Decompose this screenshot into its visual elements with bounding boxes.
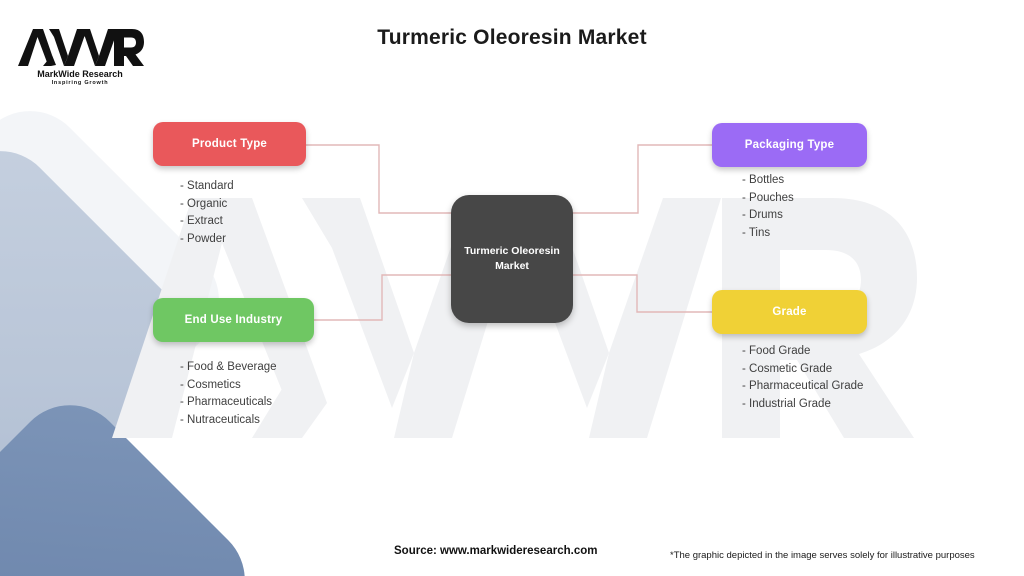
list-item: - Pharmaceutical Grade: [742, 378, 863, 396]
branch-list-packaging-type: - Bottles - Pouches - Drums - Tins: [742, 172, 794, 242]
branch-pill-packaging-type[interactable]: Packaging Type: [712, 123, 867, 167]
branch-pill-grade[interactable]: Grade: [712, 290, 867, 334]
branch-label-grade: Grade: [772, 306, 806, 318]
center-node-line2: Market: [495, 260, 529, 272]
list-item: - Pouches: [742, 190, 794, 208]
list-item: - Pharmaceuticals: [180, 394, 277, 412]
connector-end-use-industry: [314, 275, 452, 320]
infographic-canvas: MarkWide Research Inspiring Growth Turme…: [0, 0, 1024, 576]
list-item: - Nutraceuticals: [180, 412, 277, 430]
center-node-label: Turmeric Oleoresin Market: [464, 244, 560, 274]
branch-pill-end-use-industry[interactable]: End Use Industry: [153, 298, 314, 342]
list-item: - Tins: [742, 225, 794, 243]
branch-label-packaging-type: Packaging Type: [745, 139, 835, 151]
connector-product-type: [306, 145, 452, 213]
branch-list-product-type: - Standard - Organic - Extract - Powder: [180, 178, 234, 248]
source-text: Source: www.markwideresearch.com: [394, 545, 597, 557]
list-item: - Extract: [180, 213, 234, 231]
connector-packaging-type: [572, 145, 712, 213]
list-item: - Organic: [180, 196, 234, 214]
list-item: - Bottles: [742, 172, 794, 190]
list-item: - Cosmetic Grade: [742, 361, 863, 379]
center-node[interactable]: Turmeric Oleoresin Market: [451, 195, 573, 323]
disclaimer-text: *The graphic depicted in the image serve…: [670, 550, 975, 561]
list-item: - Drums: [742, 207, 794, 225]
branch-label-end-use-industry: End Use Industry: [185, 314, 283, 326]
branch-label-product-type: Product Type: [192, 138, 267, 150]
list-item: - Powder: [180, 231, 234, 249]
list-item: - Standard: [180, 178, 234, 196]
branch-list-grade: - Food Grade - Cosmetic Grade - Pharmace…: [742, 343, 863, 413]
connector-grade: [572, 275, 712, 312]
list-item: - Food Grade: [742, 343, 863, 361]
list-item: - Cosmetics: [180, 377, 277, 395]
list-item: - Food & Beverage: [180, 359, 277, 377]
list-item: - Industrial Grade: [742, 396, 863, 414]
branch-list-end-use-industry: - Food & Beverage - Cosmetics - Pharmace…: [180, 359, 277, 429]
branch-pill-product-type[interactable]: Product Type: [153, 122, 306, 166]
center-node-line1: Turmeric Oleoresin: [464, 245, 560, 257]
